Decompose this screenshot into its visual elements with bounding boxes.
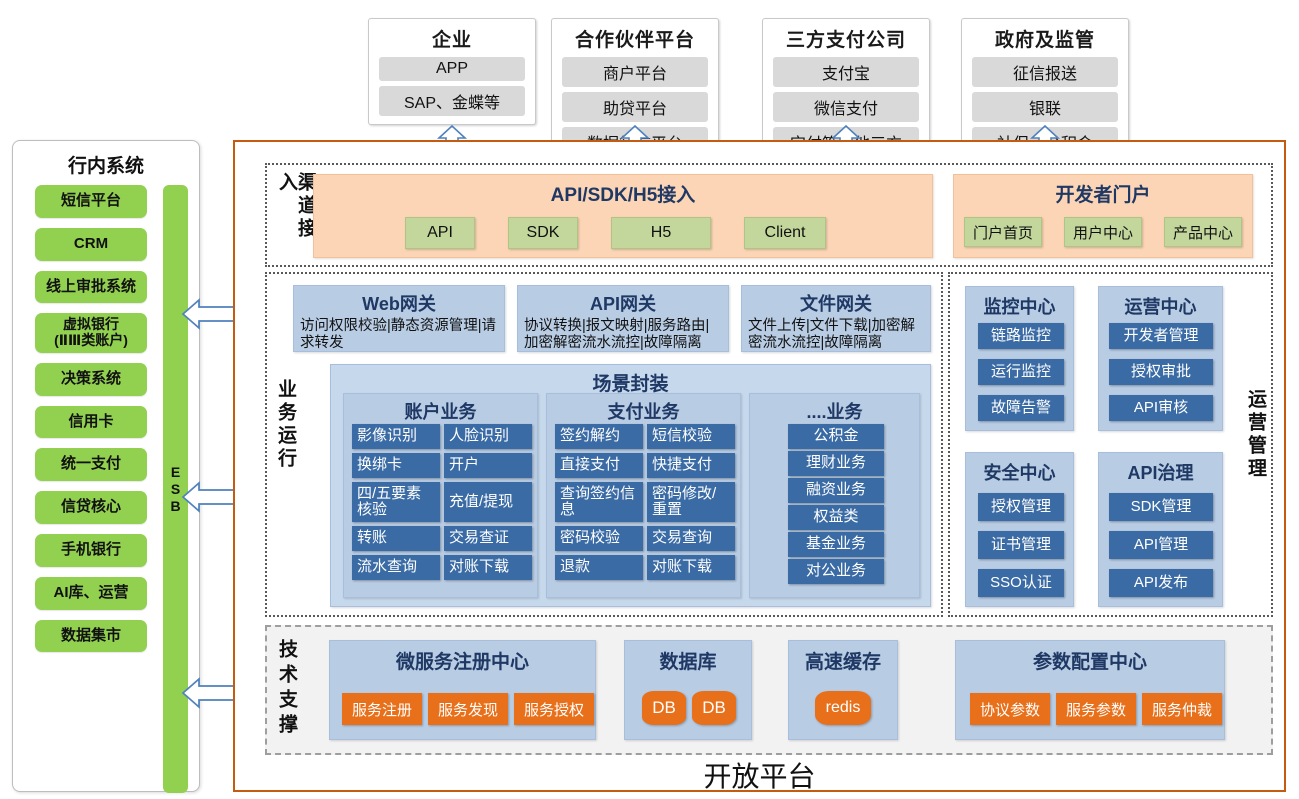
portal-chip-home[interactable]: 门户首页 (964, 217, 1042, 247)
biz-group-account: 账户业务 影像识别 人脸识别 换绑卡 开户 四/五要素核验 充值/提现 转账 交… (343, 393, 538, 598)
channel-chip-client[interactable]: Client (744, 217, 826, 249)
biz-item[interactable]: 融资业务 (788, 478, 884, 503)
tech-panel-microservice-registry: 微服务注册中心 服务注册 服务发现 服务授权 (329, 640, 596, 740)
tech-panel-config-center: 参数配置中心 协议参数 服务参数 服务仲裁 (955, 640, 1225, 740)
bank-system-item[interactable]: 短信平台 (35, 185, 147, 218)
biz-item[interactable]: 交易查证 (444, 526, 532, 551)
biz-item[interactable]: 快捷支付 (647, 453, 735, 478)
biz-item[interactable]: 基金业务 (788, 532, 884, 557)
actor-item: 微信支付 (773, 92, 919, 122)
bank-system-item[interactable]: AI库、运营 (35, 577, 147, 610)
scene-encapsulation-panel: 场景封装 账户业务 影像识别 人脸识别 换绑卡 开户 四/五要素核验 充值/提现… (330, 364, 931, 607)
biz-item[interactable]: 理财业务 (788, 451, 884, 476)
ops-management-label: 运营管理 (1246, 389, 1265, 509)
tech-panel-cache-title: 高速缓存 (789, 641, 897, 674)
bank-system-item[interactable]: 统一支付 (35, 448, 147, 481)
bank-system-item[interactable]: 决策系统 (35, 363, 147, 396)
tech-panel-cache: 高速缓存 redis (788, 640, 898, 740)
actor-title: 三方支付公司 (786, 25, 906, 52)
bank-systems-title: 行内系统 (13, 151, 199, 178)
gateway-web-desc: 访问权限校验|静态资源管理|请求转发 (294, 316, 504, 352)
tech-chip-service-authorize[interactable]: 服务授权 (514, 693, 594, 725)
biz-item[interactable]: 对公业务 (788, 559, 884, 584)
biz-item[interactable]: 充值/提现 (444, 482, 532, 522)
biz-group-payment-title: 支付业务 (547, 394, 740, 424)
ops-item[interactable]: SDK管理 (1109, 493, 1213, 521)
channel-chip-sdk[interactable]: SDK (508, 217, 578, 249)
actor-title: 企业 (432, 25, 472, 52)
ops-item[interactable]: SSO认证 (978, 569, 1064, 597)
ops-panel-api-governance-title: API治理 (1099, 453, 1222, 485)
bank-systems-panel: 行内系统 短信平台 CRM 线上审批系统 虚拟银行 (ⅡⅢ类账户) 决策系统 信… (12, 140, 200, 792)
tech-chip-service-discovery[interactable]: 服务发现 (428, 693, 508, 725)
ops-panel-monitoring-title: 监控中心 (966, 287, 1073, 319)
gateway-api-title: API网关 (518, 286, 728, 316)
ops-management-section: 运营管理 监控中心 链路监控 运行监控 故障告警 运营中心 开发者管理 授权审批… (948, 272, 1273, 617)
ops-item[interactable]: API审核 (1109, 395, 1213, 421)
biz-item[interactable]: 四/五要素核验 (352, 482, 440, 522)
gateway-api-desc: 协议转换|报文映射|服务路由|加密解密流水流控|故障隔离 (518, 316, 728, 352)
business-run-section: 业务运行 Web网关 访问权限校验|静态资源管理|请求转发 API网关 协议转换… (265, 272, 943, 617)
gateway-file-desc: 文件上传|文件下载|加密解密流水流控|故障隔离 (742, 316, 930, 352)
biz-item[interactable]: 流水查询 (352, 555, 440, 580)
ops-panel-security: 安全中心 授权管理 证书管理 SSO认证 (965, 452, 1074, 607)
actor-item: 支付宝 (773, 57, 919, 87)
portal-chip-user-center[interactable]: 用户中心 (1064, 217, 1142, 247)
gateway-file-title: 文件网关 (742, 286, 930, 316)
actor-title: 政府及监管 (995, 25, 1095, 52)
biz-item[interactable]: 公积金 (788, 424, 884, 449)
ops-item[interactable]: 链路监控 (978, 323, 1064, 349)
bank-system-item[interactable]: 手机银行 (35, 534, 147, 567)
esb-label-s: S (171, 481, 180, 497)
bank-system-item[interactable]: 信用卡 (35, 406, 147, 439)
esb-label-e: E (171, 464, 180, 480)
biz-item[interactable]: 短信校验 (647, 424, 735, 449)
developer-portal-panel: 开发者门户 门户首页 用户中心 产品中心 (953, 174, 1253, 258)
tech-panel-database: 数据库 DB DB (624, 640, 752, 740)
biz-item[interactable]: 直接支付 (555, 453, 643, 478)
ops-item[interactable]: 运行监控 (978, 359, 1064, 385)
ops-item[interactable]: API发布 (1109, 569, 1213, 597)
biz-item[interactable]: 签约解约 (555, 424, 643, 449)
ops-item[interactable]: 证书管理 (978, 531, 1064, 559)
biz-item[interactable]: 开户 (444, 453, 532, 478)
biz-item[interactable]: 查询签约信息 (555, 482, 643, 522)
bank-system-item[interactable]: 线上审批系统 (35, 271, 147, 304)
biz-item[interactable]: 交易查询 (647, 526, 735, 551)
biz-item[interactable]: 对账下载 (647, 555, 735, 580)
actor-item: 商户平台 (562, 57, 708, 87)
bank-system-item[interactable]: 数据集市 (35, 620, 147, 653)
bank-system-item[interactable]: 虚拟银行 (ⅡⅢ类账户) (35, 313, 147, 352)
gateway-web[interactable]: Web网关 访问权限校验|静态资源管理|请求转发 (293, 285, 505, 352)
ops-item[interactable]: API管理 (1109, 531, 1213, 559)
gateway-file[interactable]: 文件网关 文件上传|文件下载|加密解密流水流控|故障隔离 (741, 285, 931, 352)
portal-chip-product-center[interactable]: 产品中心 (1164, 217, 1242, 247)
tech-panel-microservice-title: 微服务注册中心 (330, 641, 595, 674)
ops-item[interactable]: 授权管理 (978, 493, 1064, 521)
db-cylinder-icon: DB (642, 691, 686, 725)
actor-item: 银联 (972, 92, 1118, 122)
biz-item[interactable]: 换绑卡 (352, 453, 440, 478)
api-sdk-h5-title: API/SDK/H5接入 (314, 180, 932, 207)
biz-group-other: ....业务 公积金 理财业务 融资业务 权益类 基金业务 对公业务 (749, 393, 920, 598)
actor-item: 助贷平台 (562, 92, 708, 122)
ops-item[interactable]: 开发者管理 (1109, 323, 1213, 349)
ops-item[interactable]: 授权审批 (1109, 359, 1213, 385)
channel-access-section: 渠道接入 API/SDK/H5接入 API SDK H5 Client 开发者门… (265, 163, 1273, 267)
actor-item: SAP、金蝶等 (379, 86, 525, 116)
actor-title: 合作伙伴平台 (575, 25, 695, 52)
tech-chip-service-register[interactable]: 服务注册 (342, 693, 422, 725)
scene-encapsulation-title: 场景封装 (331, 365, 930, 396)
platform-title: 开放平台 (233, 755, 1286, 795)
ops-panel-api-governance: API治理 SDK管理 API管理 API发布 (1098, 452, 1223, 607)
actor-item: 征信报送 (972, 57, 1118, 87)
actor-item: APP (379, 57, 525, 81)
db-cylinder-icon: DB (692, 691, 736, 725)
bank-systems-list: 短信平台 CRM 线上审批系统 虚拟银行 (ⅡⅢ类账户) 决策系统 信用卡 统一… (35, 185, 147, 662)
channel-access-label: 渠道接入 (277, 172, 315, 262)
gateway-web-title: Web网关 (294, 286, 504, 316)
biz-item[interactable]: 人脸识别 (444, 424, 532, 449)
biz-group-other-title: ....业务 (750, 394, 919, 424)
channel-chip-api[interactable]: API (405, 217, 475, 249)
bank-system-item[interactable]: 信贷核心 (35, 491, 147, 524)
channel-chip-h5[interactable]: H5 (611, 217, 711, 249)
tech-chip-protocol-param[interactable]: 协议参数 (970, 693, 1050, 725)
tech-chip-service-param[interactable]: 服务参数 (1056, 693, 1136, 725)
biz-item[interactable]: 转账 (352, 526, 440, 551)
biz-item[interactable]: 影像识别 (352, 424, 440, 449)
api-sdk-h5-panel: API/SDK/H5接入 API SDK H5 Client (313, 174, 933, 258)
ops-panel-monitoring: 监控中心 链路监控 运行监控 故障告警 (965, 286, 1074, 431)
developer-portal-title: 开发者门户 (954, 180, 1252, 207)
ops-panel-operations: 运营中心 开发者管理 授权审批 API审核 (1098, 286, 1223, 431)
business-run-label: 业务运行 (276, 379, 295, 489)
bank-system-item[interactable]: CRM (35, 228, 147, 261)
esb-label-b: B (170, 498, 180, 514)
tech-chip-service-arbitration[interactable]: 服务仲裁 (1142, 693, 1222, 725)
biz-item[interactable]: 密码校验 (555, 526, 643, 551)
actor-box-enterprise: 企业 APP SAP、金蝶等 (368, 18, 536, 125)
ops-item[interactable]: 故障告警 (978, 395, 1064, 421)
tech-support-section: 技术支撑 微服务注册中心 服务注册 服务发现 服务授权 数据库 DB DB 高速… (265, 625, 1273, 755)
redis-cylinder-icon: redis (815, 691, 871, 725)
biz-group-payment: 支付业务 签约解约 短信校验 直接支付 快捷支付 查询签约信息 密码修改/重置 … (546, 393, 741, 598)
tech-support-label: 技术支撑 (277, 639, 296, 744)
ops-panel-operations-title: 运营中心 (1099, 287, 1222, 319)
biz-item[interactable]: 退款 (555, 555, 643, 580)
tech-panel-config-title: 参数配置中心 (956, 641, 1224, 674)
biz-item[interactable]: 对账下载 (444, 555, 532, 580)
biz-group-account-title: 账户业务 (344, 394, 537, 424)
ops-panel-security-title: 安全中心 (966, 453, 1073, 485)
tech-panel-database-title: 数据库 (625, 641, 751, 674)
gateway-api[interactable]: API网关 协议转换|报文映射|服务路由|加密解密流水流控|故障隔离 (517, 285, 729, 352)
biz-item[interactable]: 密码修改/重置 (647, 482, 735, 522)
biz-item[interactable]: 权益类 (788, 505, 884, 530)
